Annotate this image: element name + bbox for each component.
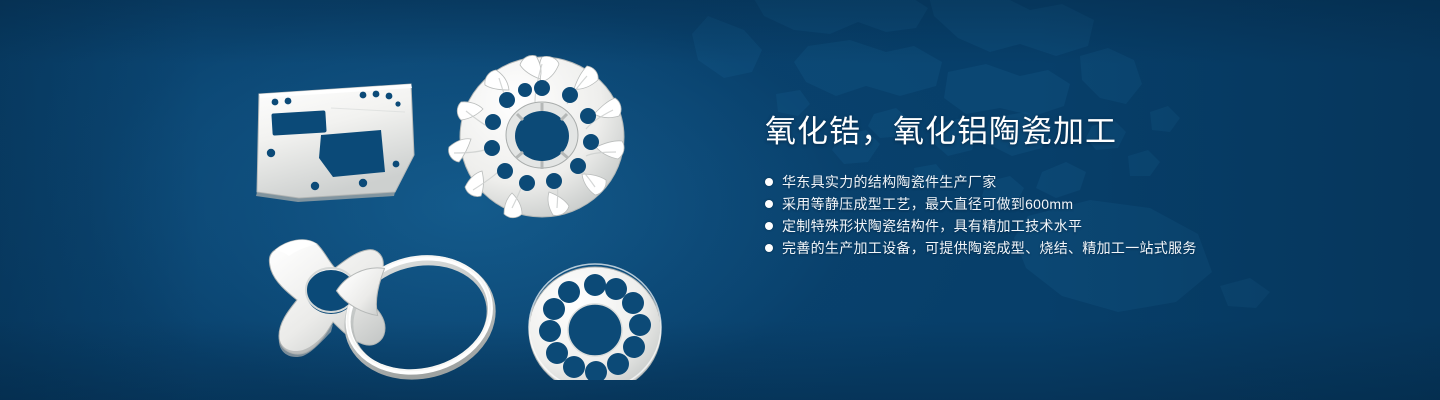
product-photo-cluster — [235, 40, 695, 380]
list-item: 完善的生产加工设备，可提供陶瓷成型、烧结、精加工一站式服务 — [765, 237, 1365, 259]
ceramic-impeller-graphic — [449, 55, 625, 217]
list-item: 采用等静压成型工艺，最大直径可做到600mm — [765, 193, 1365, 215]
banner-copy: 氧化锆，氧化铝陶瓷加工 华东具实力的结构陶瓷件生产厂家 采用等静压成型工艺，最大… — [765, 112, 1365, 259]
list-item-label: 定制特殊形状陶瓷结构件，具有精加工技术水平 — [782, 215, 1082, 237]
bullet-dot-icon — [765, 244, 773, 252]
hero-banner: 氧化锆，氧化铝陶瓷加工 华东具实力的结构陶瓷件生产厂家 采用等静压成型工艺，最大… — [0, 0, 1440, 400]
bullet-dot-icon — [765, 222, 773, 230]
ceramic-plate-graphic — [256, 84, 414, 202]
ceramic-perforated-disc-graphic — [529, 264, 661, 380]
list-item-label: 华东具实力的结构陶瓷件生产厂家 — [782, 171, 997, 193]
list-item: 定制特殊形状陶瓷结构件，具有精加工技术水平 — [765, 215, 1365, 237]
list-item-label: 采用等静压成型工艺，最大直径可做到600mm — [782, 193, 1073, 215]
page-title: 氧化锆，氧化铝陶瓷加工 — [765, 112, 1365, 152]
bullet-dot-icon — [765, 178, 773, 186]
bullet-dot-icon — [765, 200, 773, 208]
list-item-label: 完善的生产加工设备，可提供陶瓷成型、烧结、精加工一站式服务 — [782, 237, 1197, 259]
list-item: 华东具实力的结构陶瓷件生产厂家 — [765, 171, 1365, 193]
feature-list: 华东具实力的结构陶瓷件生产厂家 采用等静压成型工艺，最大直径可做到600mm 定… — [765, 171, 1365, 259]
